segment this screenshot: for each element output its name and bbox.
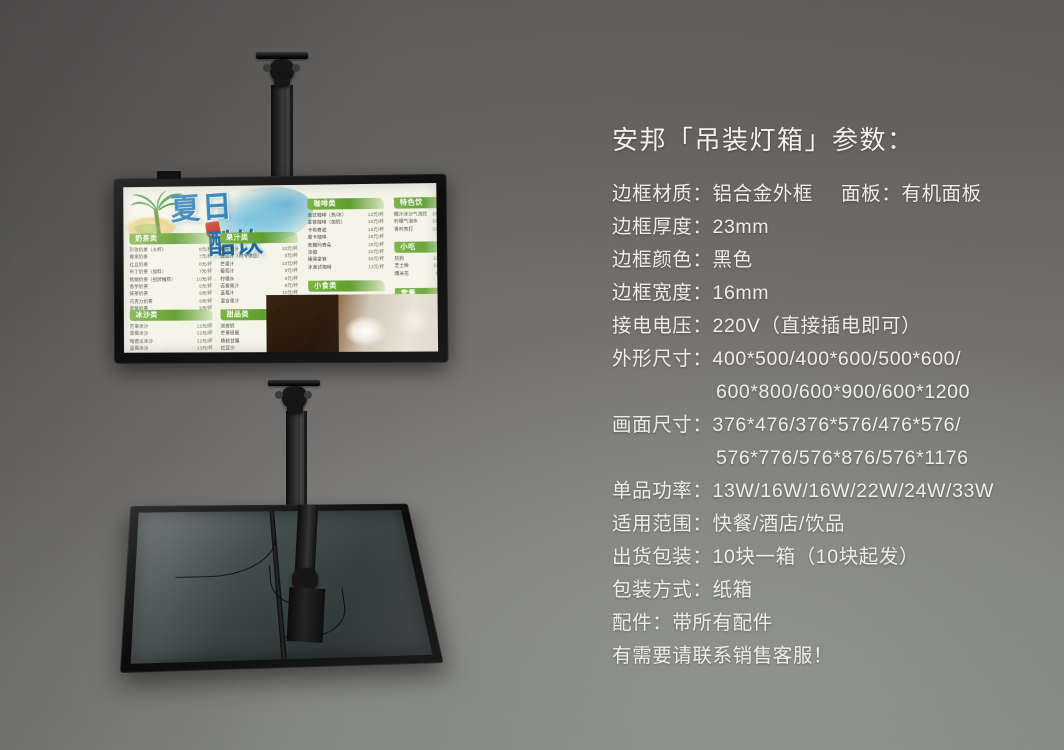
spec-value: 13W/16W/16W/22W/24W/33W — [713, 480, 994, 502]
menu-item-price: 12元/杯 — [193, 330, 213, 337]
spec-value: 220V（直接插电即可） — [713, 315, 922, 337]
menu-item-price: 9元/杯 — [281, 267, 298, 275]
menu-item-price: 12元/杯 — [428, 217, 438, 225]
spec-label: 边框颜色： — [612, 249, 713, 271]
menu-item-price: 9元/杯 — [195, 290, 212, 298]
spec-label: 出货包装： — [612, 546, 713, 568]
coffee-photo — [267, 294, 438, 352]
menu-section-header-label: 咖啡类 — [313, 199, 336, 208]
menu-item-price: 6元/杯 — [281, 274, 298, 282]
unlit-lightbox-surface — [131, 510, 433, 664]
spec-label-secondary: 面板： — [841, 183, 901, 205]
menu-section-header: 冰沙类 — [130, 309, 213, 320]
menu-item-name: 哈密瓜冰沙 — [130, 338, 153, 345]
spec-title: 安邦「吊装灯箱」参数： — [612, 126, 1042, 156]
spec-value: 纸箱 — [713, 579, 753, 601]
menu-item-name: 柠檬气泡水 — [394, 218, 418, 226]
specification-panel: 安邦「吊装灯箱」参数： 边框材质：铝合金外框面板：有机面板边框厚度：23mm边框… — [612, 126, 1042, 673]
menu-item-name: 青柠苏打 — [394, 225, 413, 233]
spec-label: 接电电压： — [612, 315, 713, 337]
menu-section: 特色饮椰汁冰沙气泡饮15元/杯柠檬气泡水12元/杯青柠苏打12元/杯 — [394, 197, 438, 233]
spec-label: 画面尺寸： — [612, 414, 713, 436]
menu-item-name: 葡萄汁 — [220, 268, 234, 276]
spec-value: 快餐/酒店/饮品 — [713, 513, 846, 535]
menu-section-header-label: 甜品类 — [227, 310, 249, 319]
spec-value-secondary: 有机面板 — [901, 183, 981, 205]
menu-section: 果汁类鲜榨橙汁10元/杯西瓜汁（时令供应）8元/杯芒果汁10元/杯葡萄汁9元/杯… — [220, 232, 298, 305]
menu-item-name: 浓缩 — [308, 249, 317, 257]
menu-item-name: 西瓜汁（时令供应） — [220, 253, 262, 261]
menu-item-name: 抹茶奶茶 — [130, 290, 148, 297]
lightbox-aluminium-frame: 夏日 酷饮 奶茶类珍珠奶茶（大杯）8元/杯椰果奶茶7元/杯红豆奶茶8元/杯布丁奶… — [113, 174, 448, 364]
menu-section: 冰沙类芒果冰沙12元/杯草莓冰沙12元/杯哈密瓜冰沙12元/杯蓝莓冰沙13元/杯… — [130, 309, 213, 352]
spec-value: 带所有配件 — [672, 612, 773, 634]
lightbox-top-mount-tab — [157, 171, 181, 179]
product-photo-scene: 夏日 酷饮 奶茶类珍珠奶茶（大杯）8元/杯椰果奶茶7元/杯红豆奶茶8元/杯布丁奶… — [0, 0, 1064, 750]
menu-item-price: 12元/杯 — [429, 225, 439, 233]
spec-line: 边框颜色：黑色 — [612, 244, 1042, 277]
illuminated-menu-lightbox: 夏日 酷饮 奶茶类珍珠奶茶（大杯）8元/杯椰果奶茶7元/杯红豆奶茶8元/杯布丁奶… — [113, 174, 448, 364]
menu-item-price: 12元/份 — [429, 254, 438, 262]
spec-value: 16mm — [713, 282, 770, 304]
spec-value: 10块一箱（10块起发） — [713, 546, 920, 568]
menu-item-name: 香芋奶茶 — [130, 283, 148, 290]
ceiling-mount-plate — [256, 52, 308, 59]
spec-line: 单品功率：13W/16W/16W/22W/24W/33W — [612, 475, 1042, 508]
menu-section-header: 特色饮 — [394, 197, 438, 209]
spec-line: 600*800/600*900/600*1200 — [612, 376, 1042, 409]
spec-label: 边框宽度： — [612, 282, 713, 304]
menu-section: 小吃热狗12元/份芝士棒11元/份爆米花8元/份 — [394, 241, 438, 277]
spec-line: 576*776/576*876/576*1176 — [612, 442, 1042, 475]
unlit-lightbox-frame — [120, 504, 444, 673]
menu-item-price: 9元/杯 — [195, 283, 212, 291]
menu-item-price: 8元/份 — [432, 269, 438, 277]
spec-line: 画面尺寸：376*476/376*576/476*576/ — [612, 409, 1042, 442]
mount-screw-right-icon — [292, 64, 300, 72]
lightbox-menu-panel: 夏日 酷饮 奶茶类珍珠奶茶（大杯）8元/杯椰果奶茶7元/杯红豆奶茶8元/杯布丁奶… — [123, 183, 438, 353]
spec-value: 576*776/576*876/576*1176 — [716, 447, 969, 469]
menu-item-row: 爆米花8元/份 — [395, 269, 439, 277]
menu-item-name: 红豆沙 — [221, 345, 235, 352]
spec-value: 有需要请联系销售客服！ — [612, 645, 833, 667]
ceiling-mount-pole-highlight — [286, 85, 290, 180]
menu-item-price: 9元/杯 — [195, 297, 212, 305]
spec-line: 边框宽度：16mm — [612, 277, 1042, 310]
spec-value: 黑色 — [713, 249, 753, 271]
spec-line: 有需要请联系销售客服！ — [612, 640, 1042, 673]
menu-item-price: 13元/杯 — [364, 263, 384, 271]
spec-label: 单品功率： — [612, 480, 713, 502]
menu-section-header: 咖啡类 — [307, 198, 383, 210]
menu-section-header: 奶茶类 — [129, 233, 212, 245]
menu-item-name: 爆米花 — [395, 270, 409, 278]
menu-item-row: 青柠苏打12元/杯 — [394, 225, 438, 233]
menu-item-name: 双皮奶 — [221, 322, 235, 329]
menu-item-name: 蓝莓汁 — [220, 290, 234, 297]
coffee-beans-photo — [267, 295, 339, 352]
ceiling-mount-swivel-joint-lower — [274, 74, 290, 87]
menu-item-name: 柠檬水 — [220, 275, 234, 283]
menu-section-header: 小吃 — [394, 241, 438, 253]
menu-item-price: 13元/杯 — [193, 345, 213, 352]
menu-item-name: 混合果汁 — [220, 297, 239, 305]
spec-label: 适用范围： — [612, 513, 713, 535]
menu-section-header: 果汁类 — [220, 232, 298, 244]
menu-item-name: 焦糖玛奇朵 — [308, 241, 332, 249]
spec-value: 376*476/376*576/476*576/ — [713, 414, 962, 436]
menu-item-name: 草莓冰沙 — [130, 330, 149, 337]
spec-value: 铝合金外框 — [713, 183, 814, 205]
menu-item-name: 蓝莓冰沙 — [130, 345, 149, 352]
spec-line: 边框材质：铝合金外框面板：有机面板 — [612, 178, 1042, 211]
spec-line: 包装方式：纸箱 — [612, 574, 1042, 607]
spec-line: 出货包装：10块一箱（10块起发） — [612, 541, 1042, 574]
spec-label: 配件： — [612, 612, 672, 634]
menu-item-price: 15元/杯 — [428, 210, 438, 218]
lower-mount-foot — [287, 587, 326, 643]
menu-section-header: 小食类 — [308, 280, 385, 292]
spec-line: 边框厚度：23mm — [612, 211, 1042, 244]
menu-item-price: 12元/杯 — [193, 337, 213, 344]
spec-line: 接电电压：220V（直接插电即可） — [612, 310, 1042, 343]
menu-item-name: 杨枝甘露 — [221, 337, 240, 344]
menu-item-name: 芒果冰沙 — [130, 323, 149, 330]
mount-screw-left-icon — [263, 64, 271, 72]
spec-label: 外形尺寸： — [612, 348, 713, 370]
menu-section-header-label: 小吃 — [400, 243, 415, 252]
menu-section-header-label: 特色饮 — [400, 198, 423, 207]
spec-label: 边框材质： — [612, 183, 713, 205]
menu-item-row: 冰美式咖啡13元/杯 — [308, 263, 385, 271]
menu-item-name: 冰美式咖啡 — [308, 263, 332, 271]
spec-label: 边框厚度： — [612, 216, 713, 238]
menu-item-name: 芝士棒 — [395, 262, 409, 270]
spec-line: 适用范围：快餐/酒店/饮品 — [612, 508, 1042, 541]
menu-section-header-label: 奶茶类 — [135, 234, 157, 243]
menu-item-name: 巧克力奶茶 — [130, 298, 153, 306]
spec-value: 400*500/400*600/500*600/ — [713, 348, 962, 370]
menu-item-price: 12元/杯 — [193, 322, 213, 329]
unlit-lightbox-panel — [120, 504, 444, 673]
power-cable-segment-1 — [176, 519, 280, 578]
menu-item-price: 11元/杯 — [193, 352, 213, 353]
menu-item-name: 热狗 — [394, 255, 404, 263]
menu-section-header-label: 小食类 — [314, 282, 337, 291]
spec-value: 600*800/600*900/600*1200 — [716, 381, 970, 403]
menu-item-name: 百香果汁 — [220, 282, 239, 290]
menu-section-header-label: 果汁类 — [226, 233, 248, 242]
intermediate-screw-left-icon — [275, 391, 283, 399]
menu-item-name: 芒果汁 — [220, 260, 234, 268]
menu-item-price: 11元/份 — [429, 262, 438, 270]
spec-value: 23mm — [713, 216, 770, 238]
menu-item-name: 焦糖奶茶（招牌推荐） — [130, 275, 176, 283]
spec-line: 配件：带所有配件 — [612, 607, 1042, 640]
spec-label: 包装方式： — [612, 579, 713, 601]
intermediate-swivel-joint-lower — [287, 401, 303, 414]
intermediate-screw-right-icon — [304, 391, 312, 399]
menu-section-header-label: 冰沙类 — [136, 311, 158, 320]
menu-item-name: 芒果班戟 — [221, 330, 240, 337]
menu-item-price: 9元/杯 — [281, 282, 298, 290]
spec-lines-container: 边框材质：铝合金外框面板：有机面板边框厚度：23mm边框颜色：黑色边框宽度：16… — [612, 178, 1042, 673]
menu-section: 咖啡类美式咖啡（热/冰）12元/杯拿铁咖啡（加奶）15元/杯卡布奇诺15元/杯摩… — [307, 198, 384, 271]
menu-item-row: 红豆冰沙11元/杯 — [130, 352, 213, 353]
spec-line: 外形尺寸：400*500/400*600/500*600/ — [612, 343, 1042, 376]
menu-section: 奶茶类珍珠奶茶（大杯）8元/杯椰果奶茶7元/杯红豆奶茶8元/杯布丁奶茶（加料）7… — [129, 233, 212, 313]
intermediate-mount-pole-highlight — [300, 411, 304, 519]
